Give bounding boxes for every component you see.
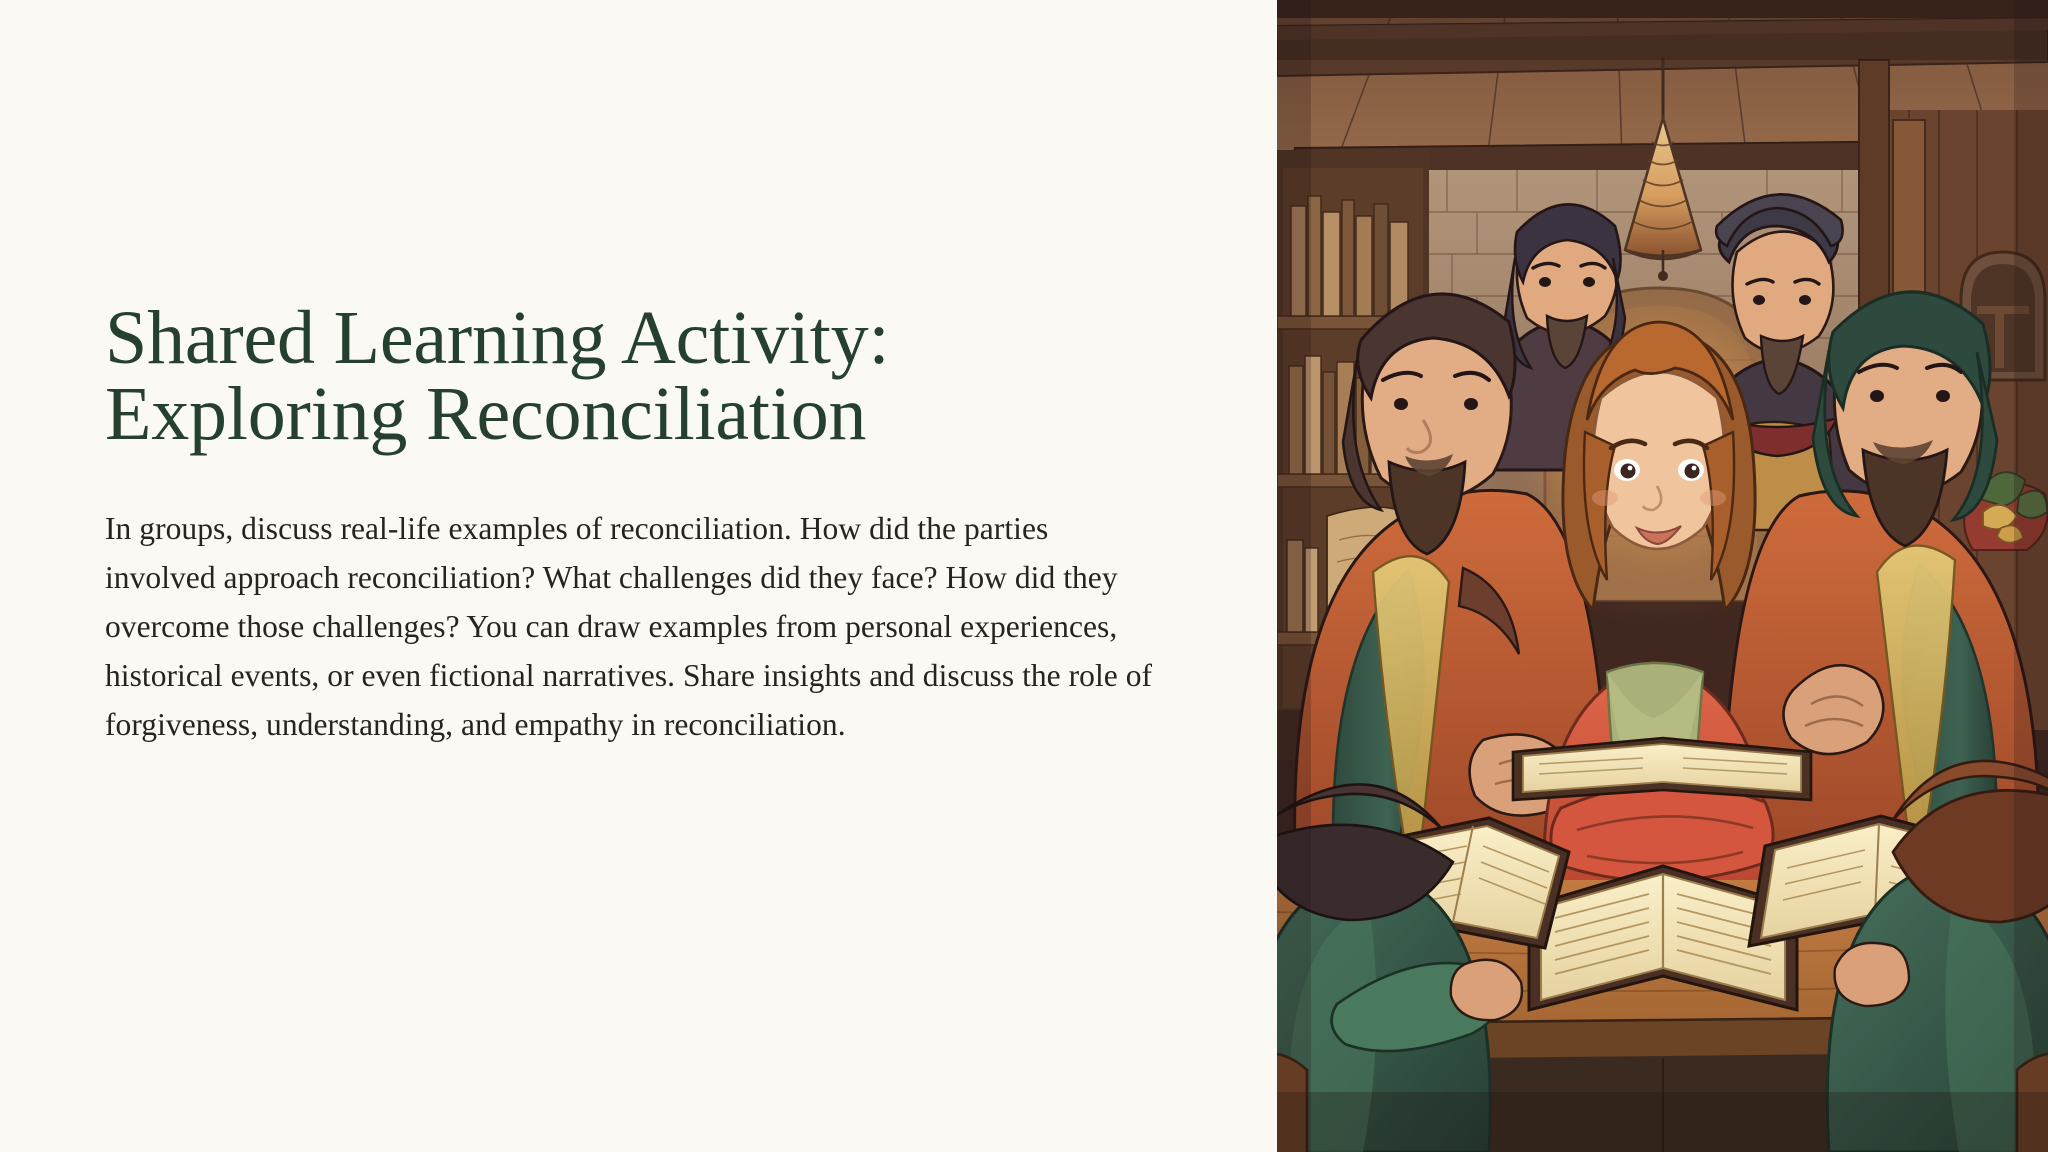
group-study-scene-illustration	[1277, 0, 2048, 1152]
page-title-line-1: Shared Learning Activity:	[105, 300, 1005, 376]
body-paragraph: In groups, discuss real-life examples of…	[105, 504, 1165, 749]
page-title: Shared Learning Activity: Exploring Reco…	[105, 300, 1005, 452]
illustration-panel	[1277, 0, 2048, 1152]
text-panel: Shared Learning Activity: Exploring Reco…	[0, 0, 1277, 1152]
text-block: Shared Learning Activity: Exploring Reco…	[105, 300, 1185, 749]
slide-root: Shared Learning Activity: Exploring Reco…	[0, 0, 2048, 1152]
open-book-far	[1513, 738, 1811, 800]
page-title-line-2: Exploring Reconciliation	[105, 376, 1005, 452]
